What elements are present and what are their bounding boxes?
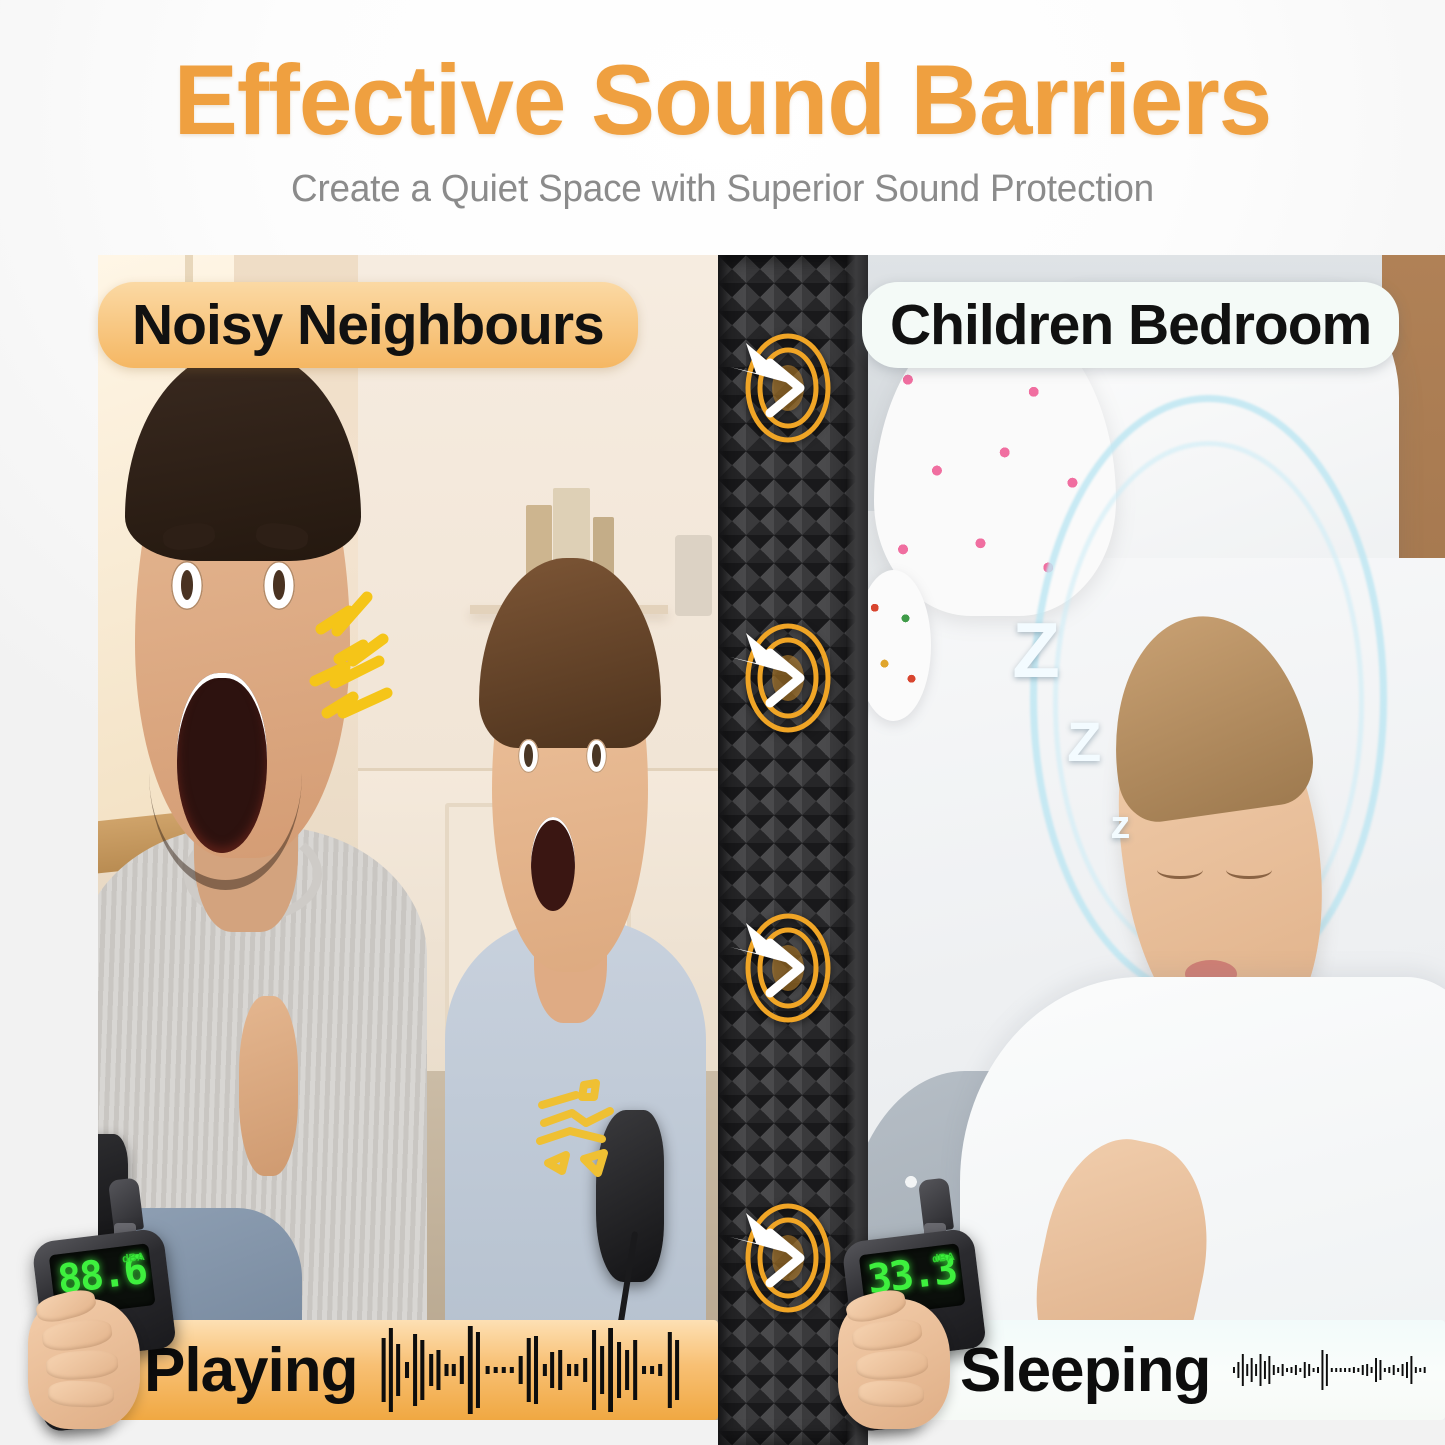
sound-absorption-marker	[726, 619, 844, 737]
polka-dot-toy	[868, 570, 931, 721]
badge-label: Children Bedroom	[890, 293, 1371, 357]
waveform-loud	[358, 1320, 718, 1420]
hand-holding-meter	[28, 1299, 140, 1429]
page-subtitle: Create a Quiet Space with Superior Sound…	[22, 168, 1424, 211]
sound-level-meter-sleeping: 33.3 dBA	[838, 1179, 1018, 1429]
noise-burst-icon	[532, 1071, 642, 1181]
sound-absorption-marker	[726, 909, 844, 1027]
sleep-z-icon: Z	[1012, 605, 1060, 696]
sound-level-meter-playing: 88.6 dBA	[28, 1179, 208, 1429]
hand-holding-meter	[838, 1299, 950, 1429]
sound-absorption-marker	[726, 329, 844, 447]
sleep-z-icon: Z	[1067, 709, 1101, 774]
header: Effective Sound Barriers Create a Quiet …	[0, 0, 1445, 255]
noise-burst-icon	[309, 581, 429, 731]
page-title: Effective Sound Barriers	[22, 48, 1424, 152]
sound-absorption-marker	[726, 1199, 844, 1317]
comparison-stage: Z Z z	[0, 255, 1445, 1445]
badge-children-bedroom: Children Bedroom	[862, 282, 1399, 368]
badge-noisy-neighbours: Noisy Neighbours	[98, 282, 638, 368]
waveform-quiet	[1210, 1320, 1445, 1420]
child-gamer-figure	[445, 558, 705, 1420]
sleep-z-icon: z	[1110, 803, 1130, 848]
badge-label: Noisy Neighbours	[132, 293, 604, 357]
